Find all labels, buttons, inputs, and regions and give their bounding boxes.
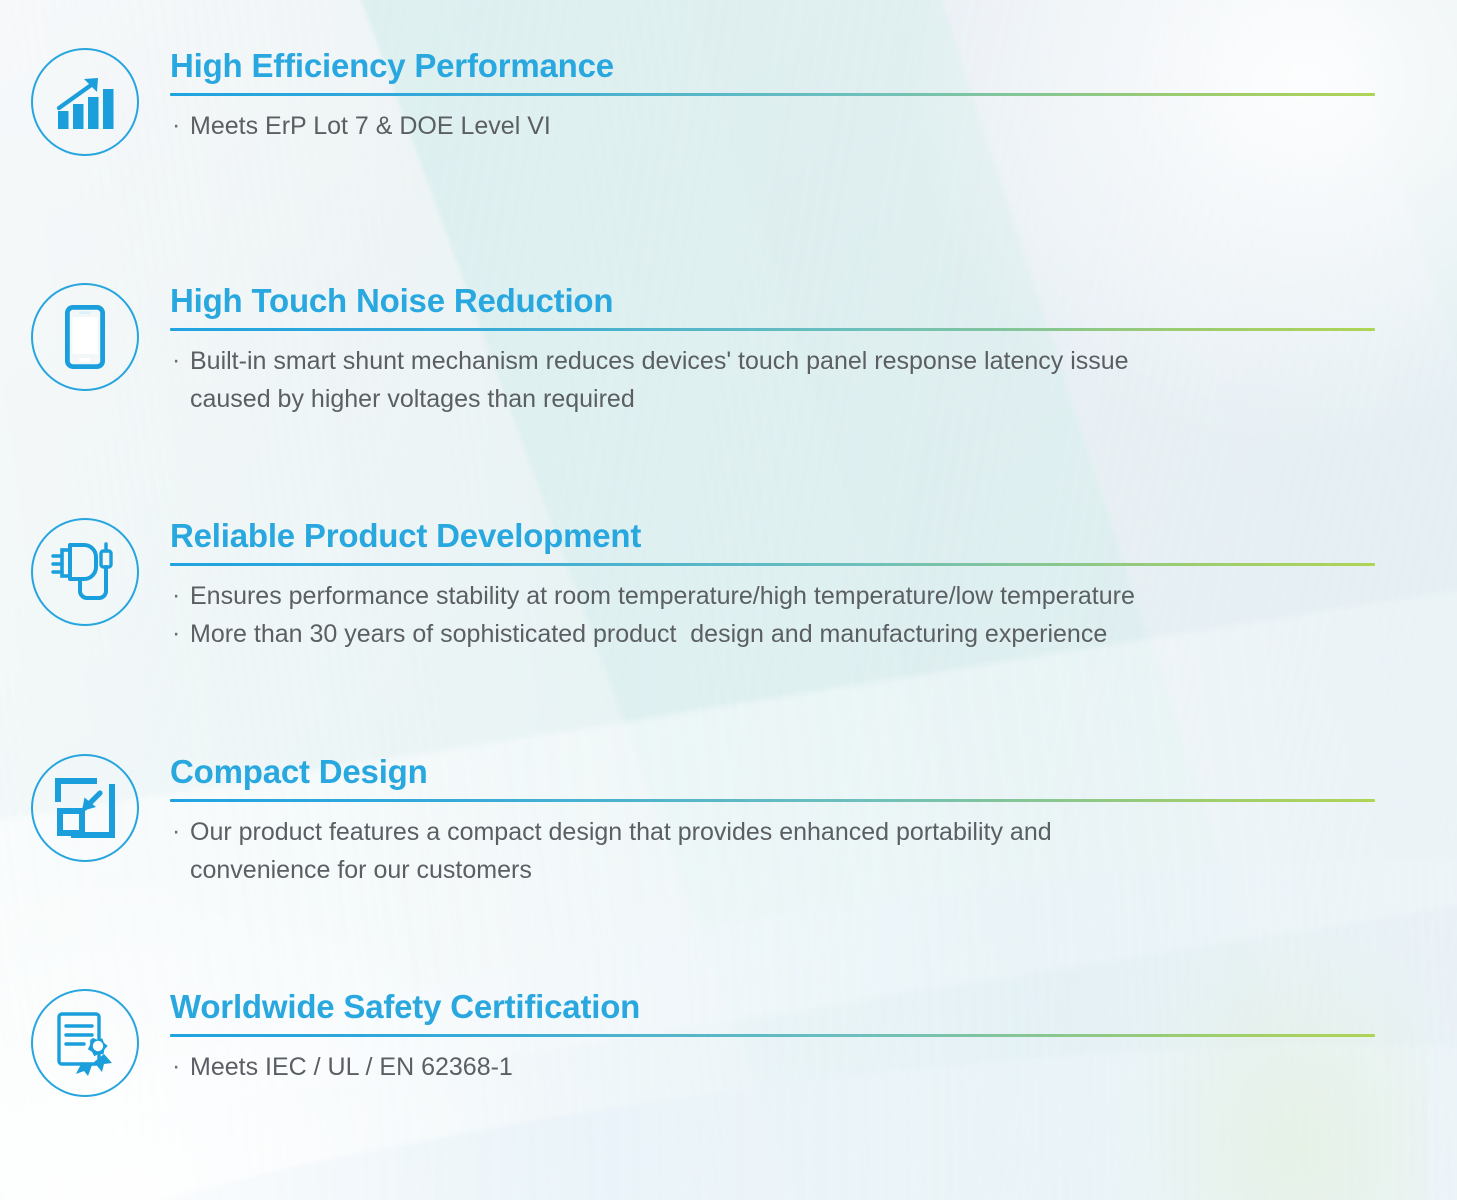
feature-bullets: ·Ensures performance stability at room t…	[170, 578, 1375, 653]
bullet-marker: ·	[172, 342, 180, 378]
bullet-text: convenience for our customers	[190, 856, 532, 884]
feature-bullets: ·Meets ErP Lot 7 & DOE Level VI	[170, 108, 1375, 144]
feature-body: High Touch Noise Reduction ·Built-in sma…	[170, 283, 1457, 419]
feature-title: High Efficiency Performance	[170, 48, 1375, 84]
feature-icon-wrap	[0, 48, 170, 156]
feature-body: Worldwide Safety Certification ·Meets IE…	[170, 989, 1457, 1087]
bullet-text: Built-in smart shunt mechanism reduces d…	[190, 347, 1129, 375]
feature-bullet: ·Meets ErP Lot 7 & DOE Level VI	[170, 108, 1375, 144]
feature-body: Reliable Product Development ·Ensures pe…	[170, 518, 1457, 654]
bullet-text: caused by higher voltages than required	[190, 385, 635, 413]
feature-divider	[170, 93, 1375, 96]
feature-bullets: ·Our product features a compact design t…	[170, 814, 1375, 889]
certificate-award-icon	[31, 989, 139, 1097]
feature-bullets: ·Built-in smart shunt mechanism reduces …	[170, 343, 1375, 418]
compact-resize-icon	[31, 754, 139, 862]
bullet-text: Our product features a compact design th…	[190, 818, 1052, 846]
feature-item-worldwide-safety-certification: Worldwide Safety Certification ·Meets IE…	[0, 989, 1457, 1097]
bullet-text: Ensures performance stability at room te…	[190, 582, 1135, 610]
feature-item-high-touch-noise-reduction: High Touch Noise Reduction ·Built-in sma…	[0, 283, 1457, 419]
feature-title: Worldwide Safety Certification	[170, 989, 1375, 1025]
power-adapter-icon	[31, 518, 139, 626]
feature-divider	[170, 1034, 1375, 1037]
feature-icon-wrap	[0, 754, 170, 862]
feature-bullet-continuation: convenience for our customers	[170, 852, 1375, 888]
bullet-text: Meets IEC / UL / EN 62368-1	[190, 1053, 513, 1081]
bullet-marker: ·	[172, 813, 180, 849]
bar-chart-growth-icon	[31, 48, 139, 156]
feature-divider	[170, 328, 1375, 331]
bullet-marker: ·	[172, 107, 180, 143]
bullet-marker: ·	[172, 1048, 180, 1084]
feature-bullet: ·More than 30 years of sophisticated pro…	[170, 616, 1375, 652]
feature-bullet: ·Built-in smart shunt mechanism reduces …	[170, 343, 1375, 379]
smartphone-icon	[31, 283, 139, 391]
bullet-text: Meets ErP Lot 7 & DOE Level VI	[190, 112, 551, 140]
feature-bullet: ·Meets IEC / UL / EN 62368-1	[170, 1049, 1375, 1085]
feature-divider	[170, 563, 1375, 566]
feature-title: Compact Design	[170, 754, 1375, 790]
feature-title: Reliable Product Development	[170, 518, 1375, 554]
feature-divider	[170, 799, 1375, 802]
feature-item-high-efficiency-performance: High Efficiency Performance ·Meets ErP L…	[0, 48, 1457, 156]
feature-highlights-page: High Efficiency Performance ·Meets ErP L…	[0, 0, 1457, 1200]
feature-bullet: ·Ensures performance stability at room t…	[170, 578, 1375, 614]
feature-body: High Efficiency Performance ·Meets ErP L…	[170, 48, 1457, 146]
feature-bullets: ·Meets IEC / UL / EN 62368-1	[170, 1049, 1375, 1085]
feature-icon-wrap	[0, 283, 170, 391]
bullet-marker: ·	[172, 615, 180, 651]
feature-item-reliable-product-development: Reliable Product Development ·Ensures pe…	[0, 518, 1457, 654]
feature-body: Compact Design ·Our product features a c…	[170, 754, 1457, 890]
feature-bullet: ·Our product features a compact design t…	[170, 814, 1375, 850]
feature-icon-wrap	[0, 989, 170, 1097]
bullet-text: More than 30 years of sophisticated prod…	[190, 620, 1107, 648]
feature-item-compact-design: Compact Design ·Our product features a c…	[0, 754, 1457, 890]
feature-bullet-continuation: caused by higher voltages than required	[170, 381, 1375, 417]
feature-icon-wrap	[0, 518, 170, 626]
bullet-marker: ·	[172, 577, 180, 613]
feature-title: High Touch Noise Reduction	[170, 283, 1375, 319]
